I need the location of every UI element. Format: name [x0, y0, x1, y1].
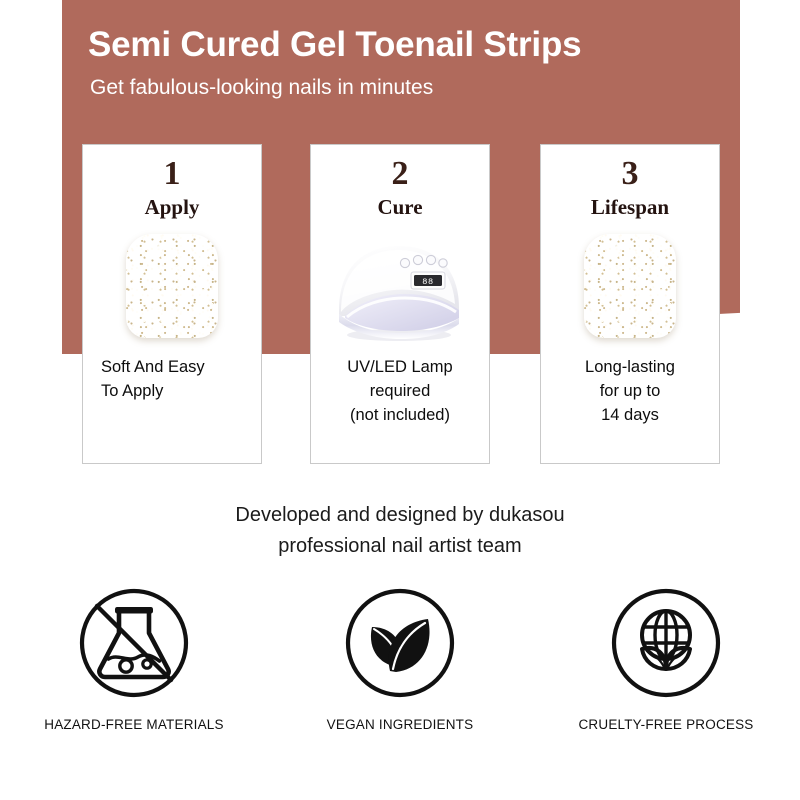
no-chemicals-flask-icon	[74, 583, 194, 703]
step-number-3: 3	[541, 157, 719, 191]
step-body-line: for up to	[549, 380, 711, 404]
badge-label-cruelty-free: CRUELTY-FREE PROCESS	[578, 717, 753, 732]
gold-glitter-nail-strip-icon	[584, 234, 676, 338]
trust-badges: HAZARD-FREE MATERIALS VEGAN INGREDIENTS	[0, 583, 800, 732]
infographic-page: Semi Cured Gel Toenail Strips Get fabulo…	[0, 0, 800, 800]
step-body-line: Long-lasting	[549, 356, 711, 380]
step-media-3	[541, 228, 719, 350]
uv-led-lamp-icon: 88	[325, 236, 475, 344]
step-media-2: 88	[311, 228, 489, 350]
page-subtitle: Get fabulous-looking nails in minutes	[90, 75, 738, 100]
badge-label-vegan: VEGAN INGREDIENTS	[327, 717, 474, 732]
developed-by-block: Developed and designed by dukasou profes…	[0, 500, 800, 562]
step-number-1: 1	[83, 157, 261, 191]
step-card-1: 1 Apply Soft And Easy To Apply	[82, 144, 262, 464]
step-body-line: 14 days	[549, 404, 711, 428]
leaves-icon	[340, 583, 460, 703]
badge-cruelty-free: CRUELTY-FREE PROCESS	[571, 583, 761, 732]
step-number-2: 2	[311, 157, 489, 191]
developed-by-line-1: Developed and designed by dukasou	[0, 500, 800, 531]
step-card-3: 3 Lifespan Long-lasting for up to 14 day…	[540, 144, 720, 464]
step-media-1	[83, 228, 261, 350]
developed-by-line-2: professional nail artist team	[0, 531, 800, 562]
step-body-line: To Apply	[101, 380, 261, 404]
gold-glitter-nail-strip-icon	[126, 234, 218, 338]
step-body-3: Long-lasting for up to 14 days	[541, 356, 719, 428]
badge-hazard-free: HAZARD-FREE MATERIALS	[39, 583, 229, 732]
step-body-line: required	[319, 380, 481, 404]
badge-label-hazard-free: HAZARD-FREE MATERIALS	[44, 717, 223, 732]
banner-text-block: Semi Cured Gel Toenail Strips Get fabulo…	[88, 26, 738, 100]
badge-vegan: VEGAN INGREDIENTS	[305, 583, 495, 732]
step-body-line: (not included)	[319, 404, 481, 428]
step-label-1: Apply	[83, 197, 261, 218]
page-title: Semi Cured Gel Toenail Strips	[88, 26, 738, 65]
step-cards: 1 Apply Soft And Easy To Apply 2 Cure	[0, 144, 800, 469]
step-body-line: UV/LED Lamp	[319, 356, 481, 380]
step-body-line: Soft And Easy	[101, 356, 261, 380]
step-card-2: 2 Cure	[310, 144, 490, 464]
step-label-2: Cure	[311, 197, 489, 218]
svg-text:88: 88	[422, 277, 434, 287]
step-body-2: UV/LED Lamp required (not included)	[311, 356, 489, 428]
step-body-1: Soft And Easy To Apply	[83, 356, 261, 404]
globe-leaves-icon	[606, 583, 726, 703]
step-label-3: Lifespan	[541, 197, 719, 218]
